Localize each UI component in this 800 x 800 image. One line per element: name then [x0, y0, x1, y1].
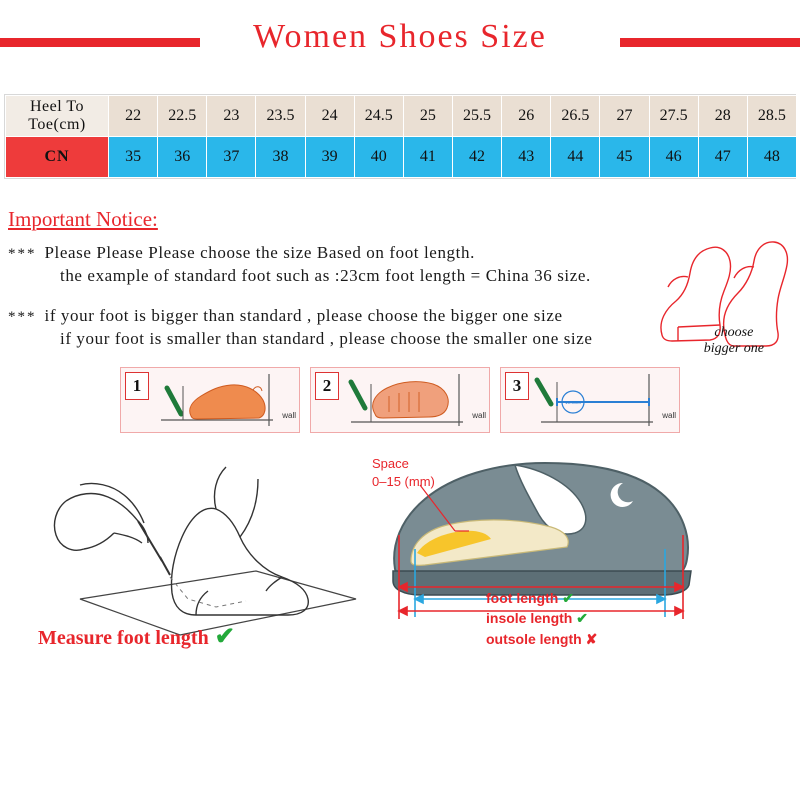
- bullet-stars-2: ***: [8, 309, 37, 325]
- cell-heel-8: 26: [502, 96, 551, 137]
- cell-heel-13: 28.5: [747, 96, 796, 137]
- notice-text-2: the example of standard foot such as :23…: [60, 266, 591, 285]
- cell-heel-5: 24.5: [354, 96, 403, 137]
- legend-label-insole-length: insole length: [486, 610, 572, 626]
- legend-mark-insole-length: ✔: [576, 610, 588, 626]
- cell-heel-4: 24: [305, 96, 354, 137]
- step-1-illustration: [121, 368, 299, 432]
- legend-item-outsole-length: outsole length ✘: [486, 629, 597, 649]
- step-2: 2 wall: [310, 367, 490, 433]
- step-3: 3 19.5CM wall: [500, 367, 680, 433]
- measure-foot-caption-text: Measure foot length: [38, 627, 209, 649]
- step-2-illustration: [311, 368, 489, 432]
- cell-cn-1: 36: [158, 137, 207, 178]
- space-label: Space 0–15 (mm): [372, 455, 435, 490]
- cell-heel-10: 27: [600, 96, 649, 137]
- cell-cn-4: 39: [305, 137, 354, 178]
- notice-text-3: if your foot is bigger than standard , p…: [45, 306, 563, 325]
- choose-note-line-1: choose: [704, 325, 764, 341]
- cell-heel-0: 22: [109, 96, 158, 137]
- size-table-container: Heel To Toe(cm) 22 22.5 23 23.5 24 24.5 …: [4, 94, 796, 179]
- table-row: Heel To Toe(cm) 22 22.5 23 23.5 24 24.5 …: [6, 96, 797, 137]
- cell-cn-2: 37: [207, 137, 256, 178]
- measure-steps-panel: 1 wall 2 wall 3: [120, 367, 680, 433]
- page-header: Women Shoes Size: [0, 0, 800, 78]
- step-1-wall-label: wall: [282, 411, 296, 420]
- cell-heel-2: 23: [207, 96, 256, 137]
- legend-mark-foot-length: ✔: [562, 590, 574, 606]
- cell-cn-3: 38: [256, 137, 305, 178]
- bottom-illustrations: Measure foot length✔: [0, 449, 800, 659]
- cell-heel-1: 22.5: [158, 96, 207, 137]
- cell-cn-13: 48: [747, 137, 796, 178]
- page-title: Women Shoes Size: [0, 18, 800, 56]
- cell-heel-3: 23.5: [256, 96, 305, 137]
- step-3-ruler-label: 19.5CM: [565, 400, 581, 405]
- cell-cn-9: 44: [551, 137, 600, 178]
- notice-text-4: if your foot is smaller than standard , …: [60, 329, 593, 348]
- choose-note-line-2: bigger one: [704, 341, 764, 357]
- cell-heel-7: 25.5: [452, 96, 501, 137]
- step-2-wall-label: wall: [472, 411, 486, 420]
- measure-legend: foot length ✔ insole length ✔ outsole le…: [486, 588, 597, 649]
- choose-bigger-note: choose bigger one: [704, 325, 764, 357]
- size-table: Heel To Toe(cm) 22 22.5 23 23.5 24 24.5 …: [5, 95, 797, 178]
- step-1: 1 wall: [120, 367, 300, 433]
- cell-cn-0: 35: [109, 137, 158, 178]
- legend-label-foot-length: foot length: [486, 590, 558, 606]
- legend-mark-outsole-length: ✘: [586, 631, 598, 647]
- important-notice-section: Important Notice: ***Please Please Pleas…: [0, 207, 800, 349]
- measure-check-icon: ✔: [215, 624, 235, 650]
- cell-cn-5: 40: [354, 137, 403, 178]
- legend-item-insole-length: insole length ✔: [486, 608, 597, 628]
- space-label-line-1: Space: [372, 455, 435, 473]
- step-3-illustration: 19.5CM: [501, 368, 679, 432]
- cell-cn-10: 45: [600, 137, 649, 178]
- cell-cn-8: 43: [502, 137, 551, 178]
- legend-item-foot-length: foot length ✔: [486, 588, 597, 608]
- cell-heel-11: 27.5: [649, 96, 698, 137]
- step-3-wall-label: wall: [662, 411, 676, 420]
- cell-cn-11: 46: [649, 137, 698, 178]
- cell-heel-9: 26.5: [551, 96, 600, 137]
- notice-text-1: Please Please Please choose the size Bas…: [45, 243, 475, 262]
- row-header-heel-to-toe: Heel To Toe(cm): [6, 96, 109, 137]
- row-header-cn: CN: [6, 137, 109, 178]
- table-row: CN 35 36 37 38 39 40 41 42 43 44 45 46 4…: [6, 137, 797, 178]
- cell-cn-12: 47: [698, 137, 747, 178]
- cell-cn-7: 42: [452, 137, 501, 178]
- notice-title: Important Notice:: [8, 207, 158, 232]
- cell-heel-6: 25: [403, 96, 452, 137]
- cell-cn-6: 41: [403, 137, 452, 178]
- measure-foot-caption: Measure foot length✔: [38, 622, 235, 651]
- cell-heel-12: 28: [698, 96, 747, 137]
- bullet-stars: ***: [8, 246, 37, 262]
- legend-label-outsole-length: outsole length: [486, 631, 582, 647]
- space-label-line-2: 0–15 (mm): [372, 473, 435, 491]
